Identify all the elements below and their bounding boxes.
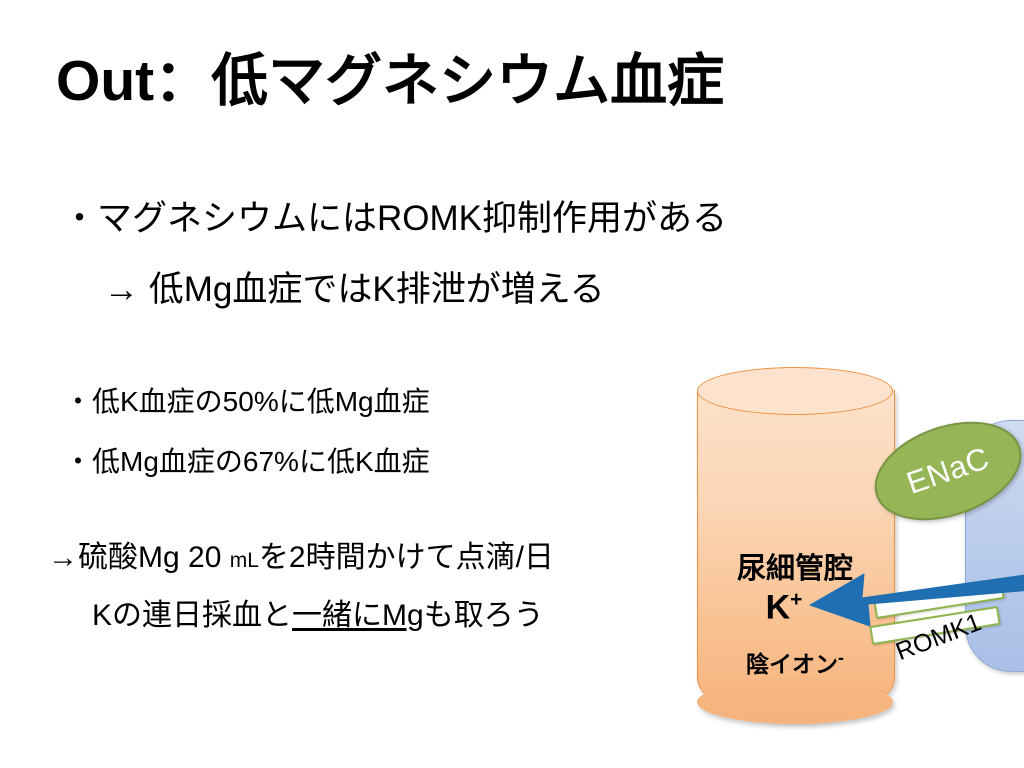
page-title: Out：低マグネシウム血症: [56, 52, 724, 112]
monitoring-advice-part1: Kの連日採血と: [92, 599, 292, 632]
treatment-dose-part2: を2時間かけて点滴/日: [259, 541, 554, 574]
treatment-dose-unit: mL: [230, 549, 259, 572]
monitoring-advice-part2: も取ろう: [424, 599, 544, 632]
anion-label: 陰イオン-: [704, 645, 886, 679]
body-block-a: ・マグネシウムにはROMK抑制作用がある → 低Mg血症ではK排泄が増える: [62, 198, 682, 311]
bullet-line-hypomagnesemia-67: ・低Mg血症の67%に低K血症: [64, 445, 674, 479]
monitoring-advice-line: Kの連日採血と一緒にMgも取ろう: [48, 598, 688, 634]
tubule-lumen-cylinder-bottom: [697, 680, 893, 724]
body-block-b: ・低K血症の50%に低Mg血症 ・低Mg血症の67%に低K血症: [64, 385, 674, 504]
potassium-efflux-arrow: [800, 568, 1024, 638]
tubule-lumen-cylinder-top: [697, 367, 893, 415]
arrow-line-k-excretion: → 低Mg血症ではK排泄が増える: [62, 269, 682, 310]
monitoring-advice-emphasis: 一緒にMg: [292, 599, 424, 632]
nephron-diagram: 尿細管腔 K+ 陰イオン- ROMK1 ENaC: [660, 340, 1024, 768]
potassium-symbol: K: [766, 588, 791, 626]
bullet-line-romk-inhibition: ・マグネシウムにはROMK抑制作用がある: [62, 198, 682, 239]
anion-charge: -: [838, 647, 844, 667]
bullet-line-hypokalemia-50: ・低K血症の50%に低Mg血症: [64, 385, 674, 419]
treatment-dose-line: →硫酸Mg 20 mLを2時間かけて点滴/日: [48, 540, 688, 576]
body-block-c: →硫酸Mg 20 mLを2時間かけて点滴/日 Kの連日採血と一緒にMgも取ろう: [48, 540, 688, 634]
anion-text: 陰イオン: [746, 651, 838, 677]
slide-canvas: Out：低マグネシウム血症 ・マグネシウムにはROMK抑制作用がある → 低Mg…: [0, 0, 1024, 768]
treatment-dose-part1: →硫酸Mg 20: [48, 541, 230, 574]
